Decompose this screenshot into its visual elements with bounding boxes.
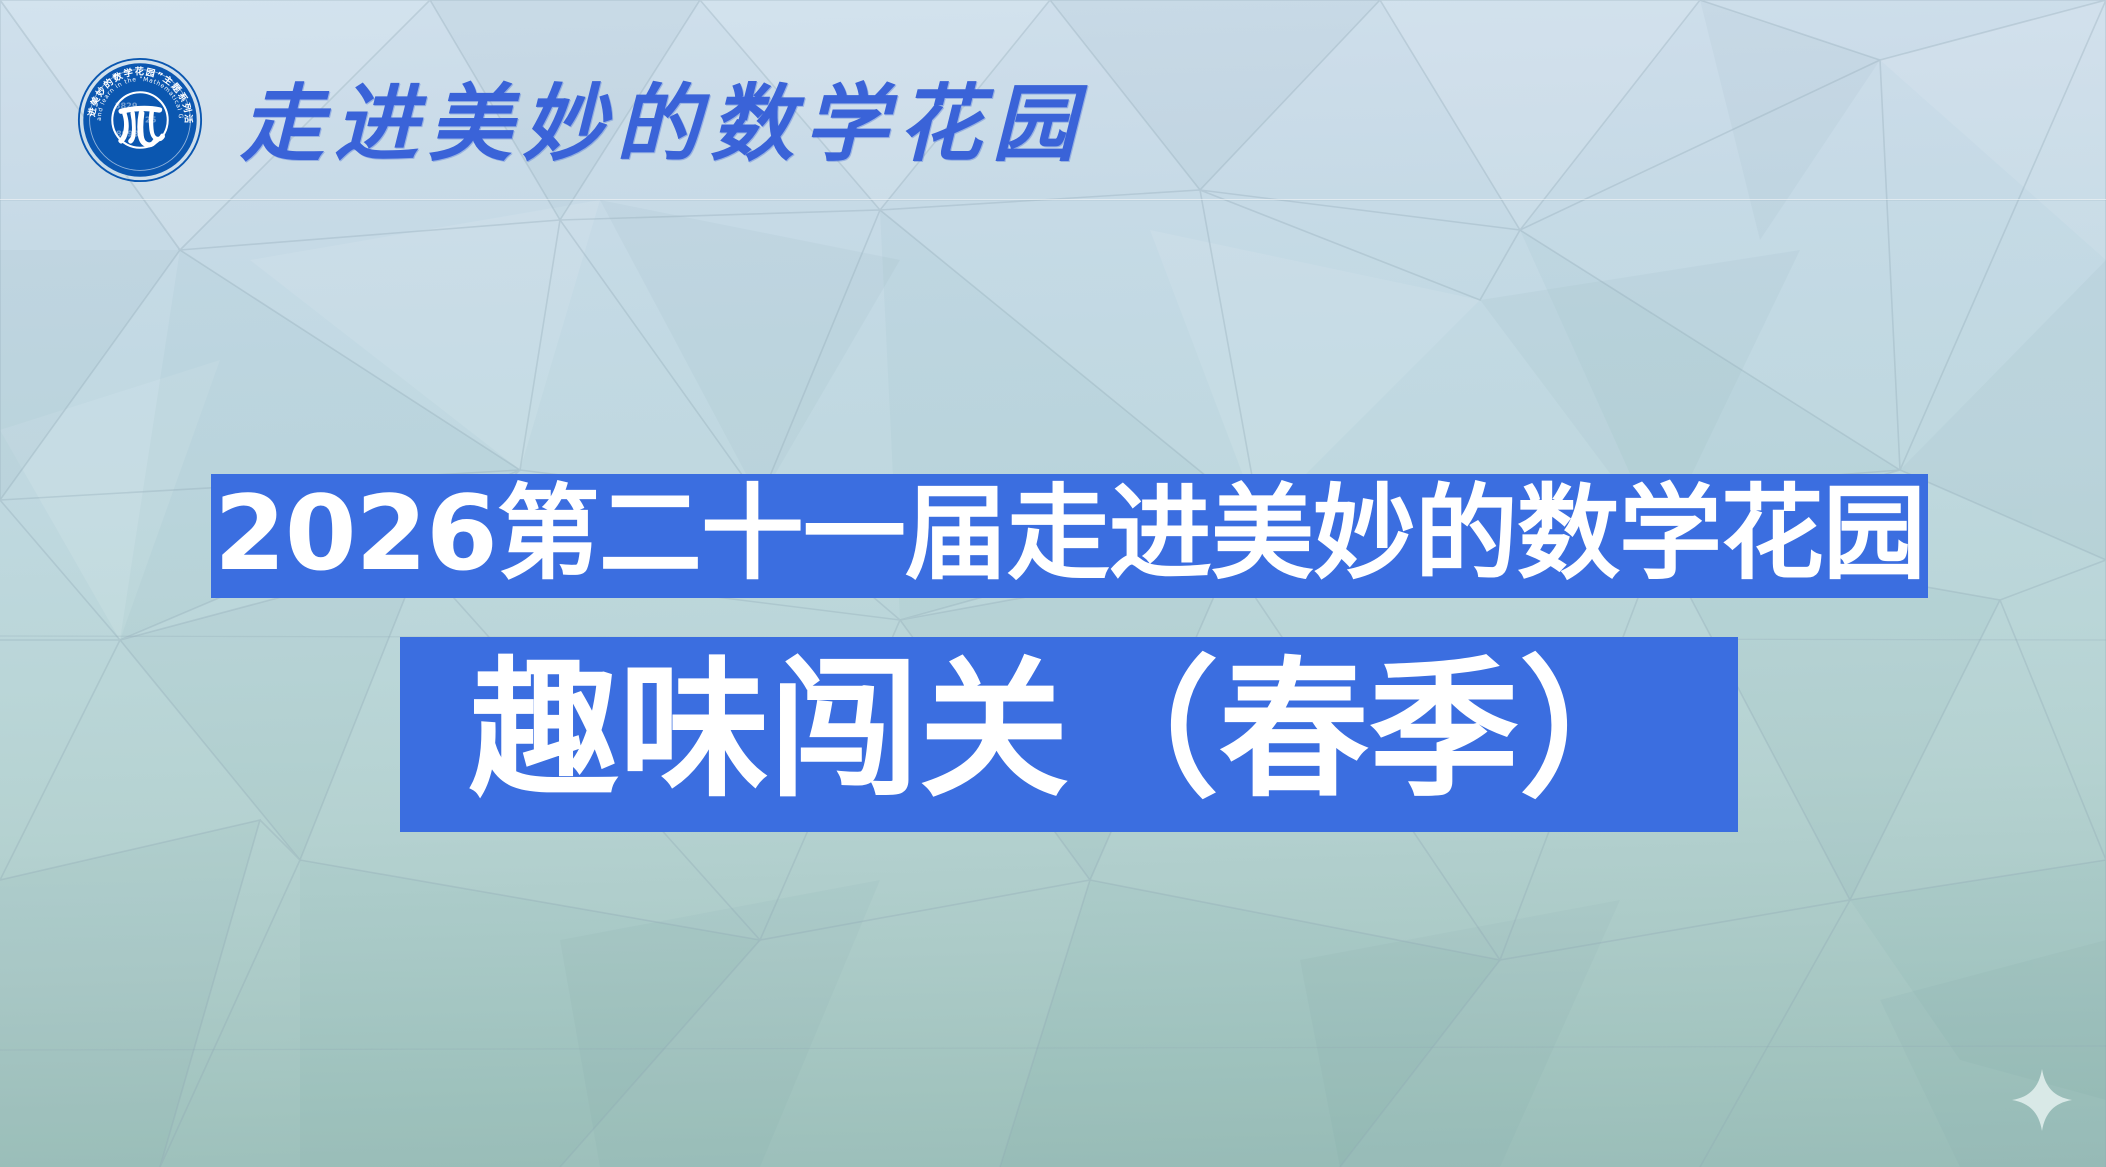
title-banner-line-1: 2026第二十一届走进美妙的数学花园: [211, 474, 1928, 598]
title-banner-line-2: 趣味闯关（春季）: [400, 637, 1738, 832]
four-point-star-icon: [2012, 1069, 2072, 1131]
main-title-block: 2026第二十一届走进美妙的数学花园 趣味闯关（春季）: [0, 0, 2106, 1167]
slide-root: 3829 25 8998 “走进美妙的数学花园”主题系列活动: [0, 0, 2106, 1167]
